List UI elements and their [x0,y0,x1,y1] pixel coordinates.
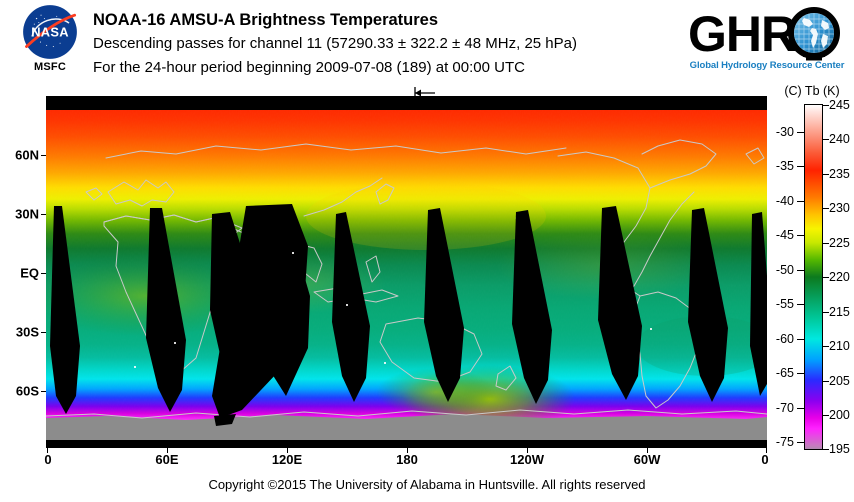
colorbar-label-k-225: 225 [829,236,850,250]
colorbar-label-k-215: 215 [829,305,850,319]
x-axis-label-60w: 60W [634,452,661,467]
colorbar-tick-c [797,373,804,374]
colorbar-label-k-245: 245 [829,98,850,112]
colorbar-label-c-m50: -50 [768,263,794,277]
ghrc-logo: GHR Global Hydrology Resour [686,6,848,80]
colorbar-tick-c [797,270,804,271]
colorbar-tick-k [822,243,829,244]
ghrc-wordmark-icon: GHR [686,6,848,62]
svg-text:GHR: GHR [688,6,797,62]
colorbar-label-c-m30: -30 [768,125,794,139]
page-subtitle: Descending passes for channel 11 (57290.… [93,32,673,56]
colorbar-tick-c [797,166,804,167]
ghrc-tagline: Global Hydrology Resource Center [688,60,846,71]
x-axis-label-360: 0 [761,452,768,467]
colorbar-tick-k [822,346,829,347]
page-title: NOAA-16 AMSU-A Brightness Temperatures [93,8,673,32]
nasa-logo-label: MSFC [14,61,86,73]
colorbar[interactable]: (C) Tb (K) -30 -35 -40 -45 -50 -55 -60 -… [770,84,854,474]
colorbar-label-c-m75: -75 [768,435,794,449]
colorbar-label-k-200: 200 [829,408,850,422]
y-axis-tick [41,391,46,392]
svg-text:NASA: NASA [31,24,69,39]
colorbar-tick-c [797,132,804,133]
colorbar-label-k-240: 240 [829,132,850,146]
colorbar-tick-k [822,312,829,313]
x-axis-label-120w: 120W [510,452,544,467]
y-axis-label-60s: 60S [16,384,39,399]
y-axis-tick [41,332,46,333]
colorbar-label-k-195: 195 [829,442,850,456]
y-axis-label-30n: 30N [15,207,39,222]
colorbar-label-c-m70: -70 [768,401,794,415]
colorbar-label-k-230: 230 [829,201,850,215]
y-axis-tick [41,155,46,156]
colorbar-label-c-m40: -40 [768,194,794,208]
colorbar-tick-k [822,139,829,140]
colorbar-label-k-235: 235 [829,167,850,181]
colorbar-tick-c [797,304,804,305]
colorbar-tick-c [797,201,804,202]
y-axis-tick [41,273,46,274]
y-axis-label-60n: 60N [15,148,39,163]
colorbar-gradient-bar[interactable] [804,104,823,450]
x-axis-label-0: 0 [44,452,51,467]
colorbar-tick-k [822,449,829,450]
colorbar-gradient [805,105,822,449]
colorbar-label-k-220: 220 [829,270,850,284]
y-axis-tick [41,214,46,215]
colorbar-label-c-m65: -65 [768,366,794,380]
y-axis-label-30s: 30S [16,325,39,340]
copyright-notice: Copyright ©2015 The University of Alabam… [0,477,854,492]
x-axis-label-120e: 120E [272,452,302,467]
colorbar-label-k-210: 210 [829,339,850,353]
colorbar-label-c-m35: -35 [768,159,794,173]
colorbar-tick-c [797,339,804,340]
nasa-logo: NASA MSFC [14,4,86,80]
colorbar-tick-k [822,415,829,416]
brightness-temperature-map[interactable] [46,96,767,448]
colorbar-tick-k [822,277,829,278]
colorbar-tick-k [822,208,829,209]
plot-page: NASA MSFC NOAA-16 AMSU-A Brightness Temp… [0,0,854,502]
colorbar-tick-c [797,408,804,409]
colorbar-header: (C) Tb (K) [770,84,854,98]
nasa-meatball-icon: NASA [22,4,78,60]
colorbar-label-c-m55: -55 [768,297,794,311]
x-axis-label-60e: 60E [155,452,178,467]
colorbar-tick-k [822,381,829,382]
colorbar-tick-c [797,442,804,443]
page-period: For the 24-hour period beginning 2009-07… [93,56,673,80]
map-raster [46,96,767,448]
colorbar-tick-k [822,105,829,106]
colorbar-tick-k [822,174,829,175]
title-block: NOAA-16 AMSU-A Brightness Temperatures D… [93,8,673,80]
colorbar-label-c-m60: -60 [768,332,794,346]
y-axis-label-eq: EQ [20,266,39,281]
colorbar-label-k-205: 205 [829,374,850,388]
colorbar-tick-c [797,235,804,236]
x-axis-label-180: 180 [396,452,418,467]
colorbar-label-c-m45: -45 [768,228,794,242]
